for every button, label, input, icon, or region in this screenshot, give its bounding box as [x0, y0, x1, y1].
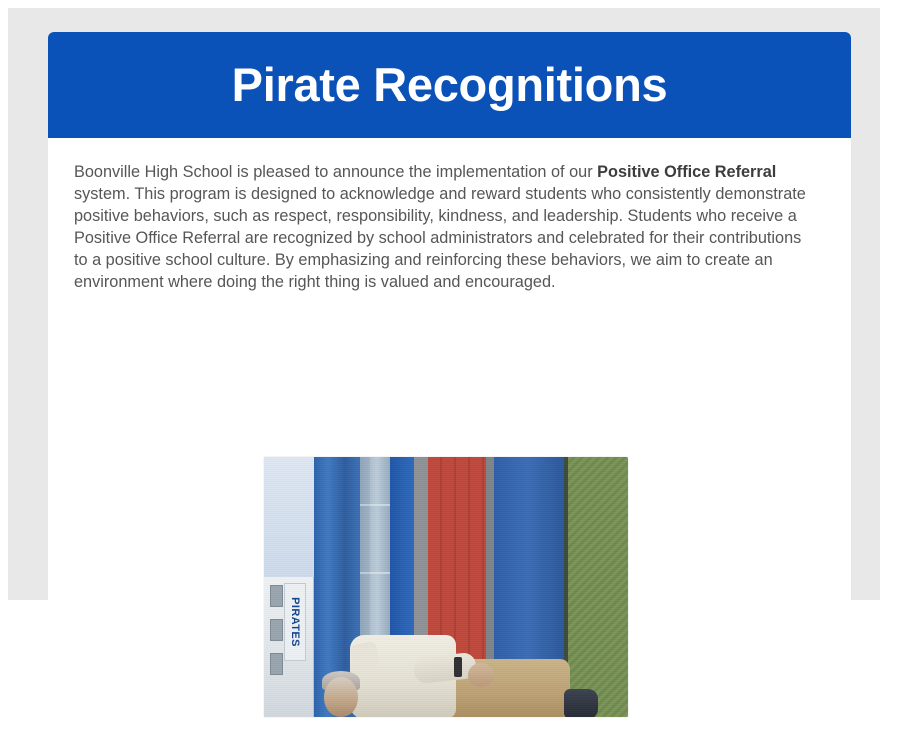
article-body: Boonville High School is pleased to anno…: [48, 138, 851, 733]
photo-building-window: [270, 653, 283, 675]
photo-fence-rail: [360, 504, 394, 506]
stadium-photo: PIRATES: [264, 457, 628, 717]
paragraph-bold-term: Positive Office Referral: [597, 163, 776, 181]
paragraph-lead: Boonville High School is pleased to anno…: [74, 163, 597, 181]
page-frame: Pirate Recognitions Boonville High Schoo…: [0, 0, 900, 600]
paragraph-rest: system. This program is designed to ackn…: [74, 185, 806, 291]
photo-person-shoe: [564, 689, 598, 717]
page-banner: Pirate Recognitions: [48, 32, 851, 138]
page-title: Pirate Recognitions: [212, 60, 688, 109]
article-photo-wrap: PIRATES: [74, 441, 817, 733]
photo-building-window: [270, 619, 283, 641]
article-paragraph: Boonville High School is pleased to anno…: [74, 162, 817, 293]
photo-person-watch: [454, 657, 462, 677]
photo-building-window: [270, 585, 283, 607]
photo-person-head: [324, 677, 358, 717]
photo-person-hand: [468, 663, 494, 687]
photo-person: [302, 609, 602, 717]
photo-fence-rail: [360, 572, 394, 574]
photo-pirates-sign-text: PIRATES: [289, 597, 301, 647]
content-card: Pirate Recognitions Boonville High Schoo…: [48, 32, 851, 733]
